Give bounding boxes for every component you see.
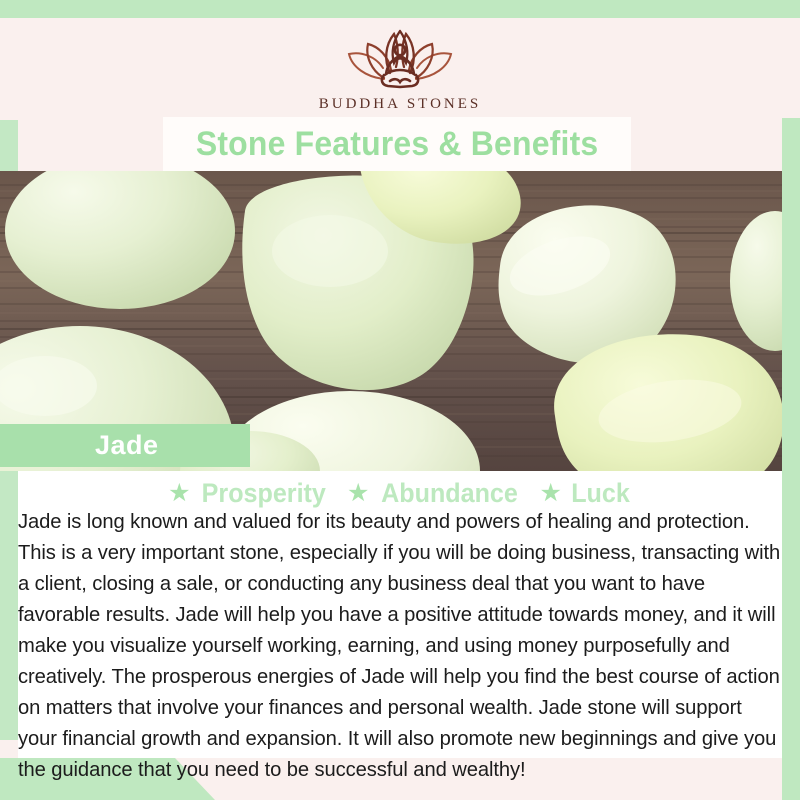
brand-name-text: BUDDHA STONES — [319, 96, 482, 113]
star-icon: ★ — [168, 481, 190, 506]
brand-header: BUDDHA STONES — [0, 18, 800, 118]
keyword-item: ★ Abundance — [347, 478, 523, 509]
keyword-item: ★ Prosperity — [168, 478, 331, 509]
brand-logo: BUDDHA STONES — [319, 23, 482, 113]
stone-name-banner: Jade — [0, 424, 250, 467]
lotus-meditation-icon — [340, 23, 460, 95]
keyword-label: Prosperity — [202, 478, 326, 509]
page-title: Stone Features & Benefits — [196, 125, 599, 164]
keyword-label: Luck — [571, 478, 630, 509]
section-title-banner: Stone Features & Benefits — [163, 117, 631, 171]
keyword-item: ★ Luck — [539, 478, 631, 509]
keyword-label: Abundance — [382, 478, 519, 509]
keyword-list: ★ Prosperity ★ Abundance ★ Luck — [0, 478, 800, 509]
star-icon: ★ — [539, 481, 561, 506]
star-icon: ★ — [347, 481, 369, 506]
description-block: Jade is long known and valued for its be… — [18, 506, 793, 785]
stone-name-label: Jade — [0, 430, 159, 461]
description-text: Jade is long known and valued for its be… — [18, 506, 781, 785]
